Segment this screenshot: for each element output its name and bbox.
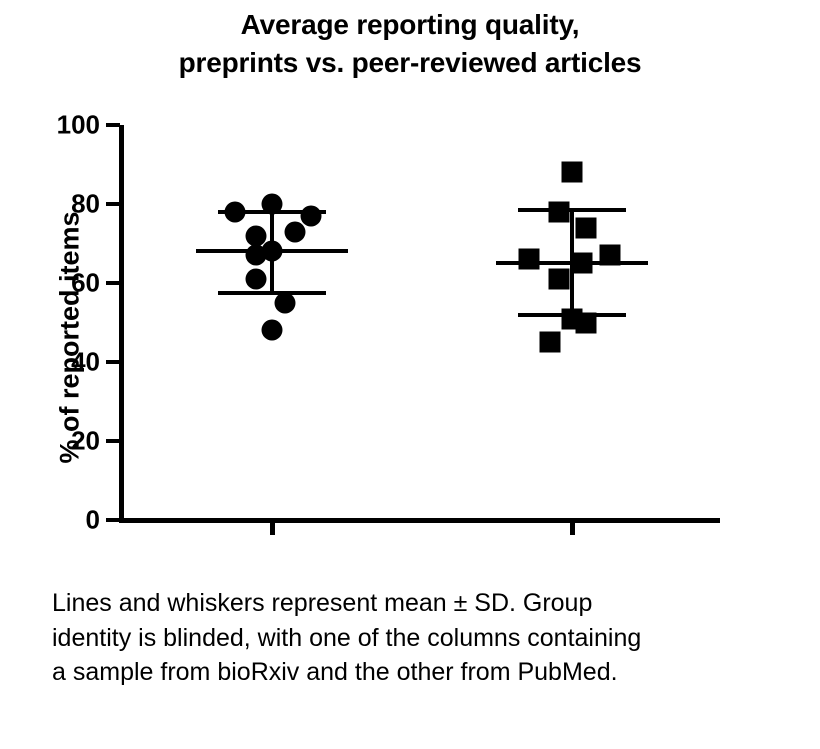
data-point [540, 332, 561, 353]
y-tick-label: 20 [0, 426, 100, 457]
caption-line-1: Lines and whiskers represent mean ± SD. … [52, 586, 792, 621]
error-bar-lower-cap [218, 291, 326, 295]
x-axis-line [119, 518, 720, 523]
y-tick-label: 80 [0, 189, 100, 220]
y-axis-line [119, 125, 124, 523]
data-point [549, 269, 570, 290]
data-point [301, 205, 322, 226]
data-point [572, 253, 593, 274]
x-tick-mark [570, 521, 575, 535]
y-tick-mark [106, 518, 120, 522]
data-point [262, 320, 283, 341]
data-point [562, 162, 583, 183]
data-point [225, 201, 246, 222]
y-tick-mark [106, 281, 120, 285]
data-point [285, 221, 306, 242]
chart-caption: Lines and whiskers represent mean ± SD. … [52, 586, 792, 690]
data-point [576, 217, 597, 238]
y-tick-mark [106, 360, 120, 364]
y-tick-label: 0 [0, 505, 100, 536]
data-point [246, 245, 267, 266]
caption-line-3: a sample from bioRxiv and the other from… [52, 655, 792, 690]
chart-plot-area: % of reported items 100806040200 [0, 0, 820, 560]
data-point [519, 249, 540, 270]
x-tick-mark [270, 521, 275, 535]
error-bar-upper-cap [518, 208, 626, 212]
data-point [246, 225, 267, 246]
data-point [549, 201, 570, 222]
y-tick-label: 60 [0, 268, 100, 299]
y-tick-label: 100 [0, 110, 100, 141]
data-point [246, 269, 267, 290]
y-tick-mark [106, 439, 120, 443]
caption-line-2: identity is blinded, with one of the col… [52, 621, 792, 656]
data-point [262, 194, 283, 215]
y-tick-mark [106, 123, 120, 127]
data-point [576, 312, 597, 333]
y-tick-label: 40 [0, 347, 100, 378]
data-point [275, 292, 296, 313]
data-point [600, 245, 621, 266]
y-tick-mark [106, 202, 120, 206]
